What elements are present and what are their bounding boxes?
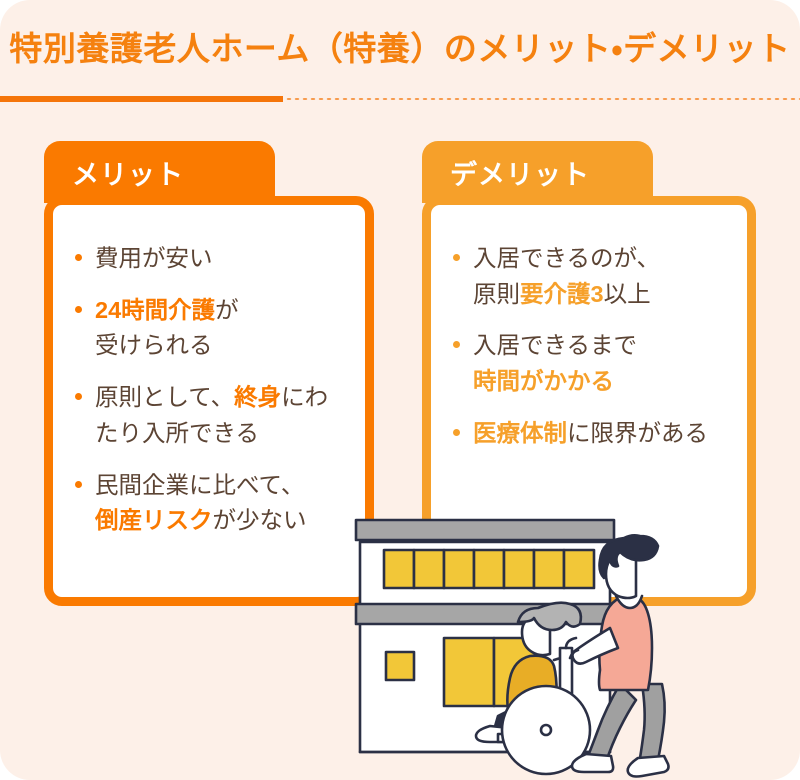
merit-list-item-highlight: 終身: [234, 384, 281, 410]
header-divider: [0, 96, 800, 102]
merit-list-item-text: 受けられる: [95, 332, 213, 358]
building-upper-windows: [384, 550, 594, 588]
merit-list-item: 原則として、終身にわたり入所できる: [71, 380, 351, 451]
demerit-list-item-text: 原則: [473, 281, 520, 307]
merit-list-item-text: が: [215, 297, 239, 323]
care-facility-illustration: [348, 508, 700, 780]
merit-card-body: 費用が安い24時間介護が受けられる原則として、終身にわたり入所できる民間企業に比…: [44, 196, 374, 606]
merit-tab-label: メリット: [72, 153, 184, 192]
demerit-list-item-text: 以上: [604, 281, 651, 307]
demerit-list-item-text: 入居できるまで: [473, 332, 637, 358]
merit-list-item-text: 民間企業に比べて、: [95, 472, 304, 498]
merit-list-item-highlight: 24時間介護: [95, 297, 215, 323]
merit-list-item-highlight: 倒産リスク: [95, 507, 213, 533]
caregiver-back-shoe: [572, 754, 613, 772]
demerit-list-item: 医療体制に限界がある: [449, 416, 733, 452]
merit-list-item-text: たり入所できる: [95, 420, 259, 446]
demerit-list: 入居できるのが、原則要介護3以上入居できるまで時間がかかる医療体制に限界がある: [431, 205, 747, 468]
demerit-list-item: 入居できるまで時間がかかる: [449, 328, 733, 399]
infographic-page: 特別養護老人ホーム（特養）のメリット・デメリット メリット 費用が安い24時間介…: [0, 0, 800, 780]
demerit-list-item-highlight: 医療体制: [473, 420, 567, 446]
demerit-list-item-text: に限界がある: [567, 420, 708, 446]
merit-list-item-text: 費用が安い: [95, 245, 213, 271]
building-roof-band: [356, 520, 614, 540]
divider-solid-segment: [0, 96, 283, 102]
merit-list-item-text: 原則として、: [95, 384, 234, 410]
merit-list-item-text: が少ない: [213, 507, 307, 533]
demerit-card-tab: デメリット: [422, 141, 653, 203]
merit-list: 費用が安い24時間介護が受けられる原則として、終身にわたり入所できる民間企業に比…: [53, 205, 365, 555]
divider-dotted-segment: [285, 97, 800, 101]
merit-list-item: 民間企業に比べて、倒産リスクが少ない: [71, 468, 351, 539]
caregiver-front-leg: [640, 684, 665, 760]
demerit-tab-label: デメリット: [450, 153, 590, 192]
demerit-list-item-text: 入居できるのが、: [473, 245, 660, 271]
page-title: 特別養護老人ホーム（特養）のメリット・デメリット: [0, 28, 800, 69]
wheelchair-hub: [541, 725, 551, 735]
demerit-list-item: 入居できるのが、原則要介護3以上: [449, 241, 733, 312]
building-entrance-left: [444, 638, 494, 706]
merit-list-item: 費用が安い: [71, 241, 351, 277]
caregiver-front-shoe: [628, 756, 669, 777]
merit-list-item-text: にわ: [281, 384, 328, 410]
merit-card-tab: メリット: [44, 141, 275, 203]
illustration-svg: [348, 508, 700, 780]
building-small-window: [386, 652, 414, 680]
demerit-list-item-highlight: 時間がかかる: [473, 368, 614, 394]
merit-list-item: 24時間介護が受けられる: [71, 293, 351, 364]
demerit-list-item-highlight: 要介護3: [520, 281, 604, 307]
